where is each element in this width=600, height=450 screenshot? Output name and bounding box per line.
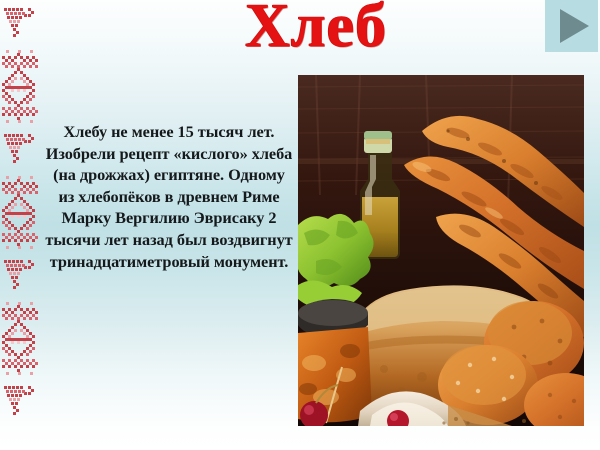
play-triangle-icon (560, 9, 589, 43)
slavic-cross-stitch-border (0, 0, 42, 450)
page-title: Хлеб (186, 0, 446, 59)
slide-bread: Хлеб Хлебу не менее 15 тысяч лет. Изобре… (0, 0, 600, 450)
bread-assortment-photo (298, 75, 584, 426)
body-paragraph: Хлебу не менее 15 тысяч лет. Изобрели ре… (44, 121, 294, 272)
ornament-pattern (0, 0, 42, 450)
play-button[interactable] (545, 0, 598, 52)
